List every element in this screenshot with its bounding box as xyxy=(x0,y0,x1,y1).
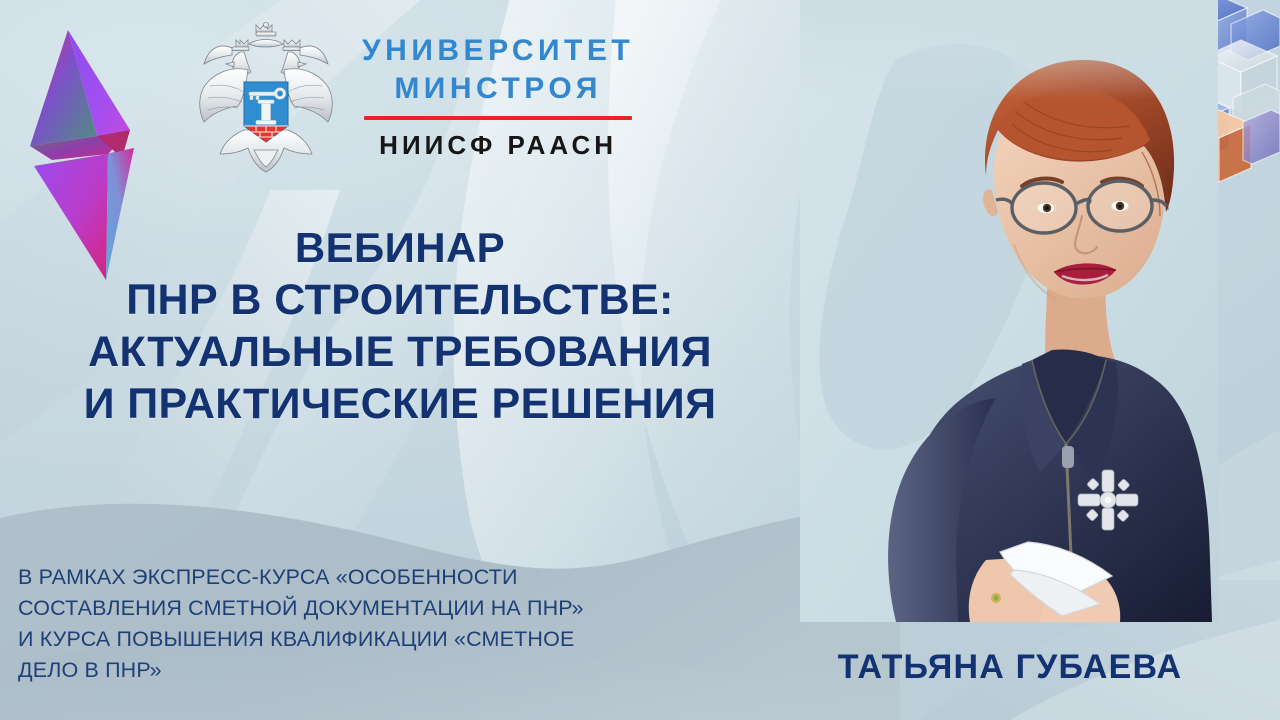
subtitle-line-1: В РАМКАХ ЭКСПРЕСС-КУРСА «ОСОБЕННОСТИ xyxy=(18,562,778,593)
speaker-name: ТАТЬЯНА ГУБАЕВА xyxy=(800,648,1220,687)
russian-double-headed-eagle-emblem-icon xyxy=(196,22,336,178)
subtitle-text: В РАМКАХ ЭКСПРЕСС-КУРСА «ОСОБЕННОСТИ СОС… xyxy=(18,562,778,686)
university-line-2: МИНСТРОЯ xyxy=(362,70,634,108)
university-wordmark: УНИВЕРСИТЕТ МИНСТРОЯ НИИСФ РААСН xyxy=(362,22,634,160)
subtitle-line-2: СОСТАВЛЕНИЯ СМЕТНОЙ ДОКУМЕНТАЦИИ НА ПНР» xyxy=(18,593,778,624)
headline-title: ВЕБИНАР ПНР В СТРОИТЕЛЬСТВЕ: АКТУАЛЬНЫЕ … xyxy=(0,222,800,430)
brand-lockup: УНИВЕРСИТЕТ МИНСТРОЯ НИИСФ РААСН xyxy=(196,22,634,178)
headline-line-3: АКТУАЛЬНЫЕ ТРЕБОВАНИЯ xyxy=(0,326,800,378)
headline-line-1: ВЕБИНАР xyxy=(0,222,800,274)
subtitle-line-3: И КУРСА ПОВЫШЕНИЯ КВАЛИФИКАЦИИ «СМЕТНОЕ xyxy=(18,624,778,655)
university-line-1: УНИВЕРСИТЕТ xyxy=(362,32,634,70)
subtitle-line-4: ДЕЛО В ПНР» xyxy=(18,655,778,686)
banner-canvas: УНИВЕРСИТЕТ МИНСТРОЯ НИИСФ РААСН ВЕБИНАР… xyxy=(0,0,1280,720)
red-divider-rule xyxy=(364,116,632,120)
headline-line-4: И ПРАКТИЧЕСКИЕ РЕШЕНИЯ xyxy=(0,378,800,430)
institute-line: НИИСФ РААСН xyxy=(362,130,634,160)
speaker-portrait-illustration xyxy=(800,0,1218,622)
headline-line-2: ПНР В СТРОИТЕЛЬСТВЕ: xyxy=(0,274,800,326)
speaker-photo xyxy=(800,0,1218,622)
